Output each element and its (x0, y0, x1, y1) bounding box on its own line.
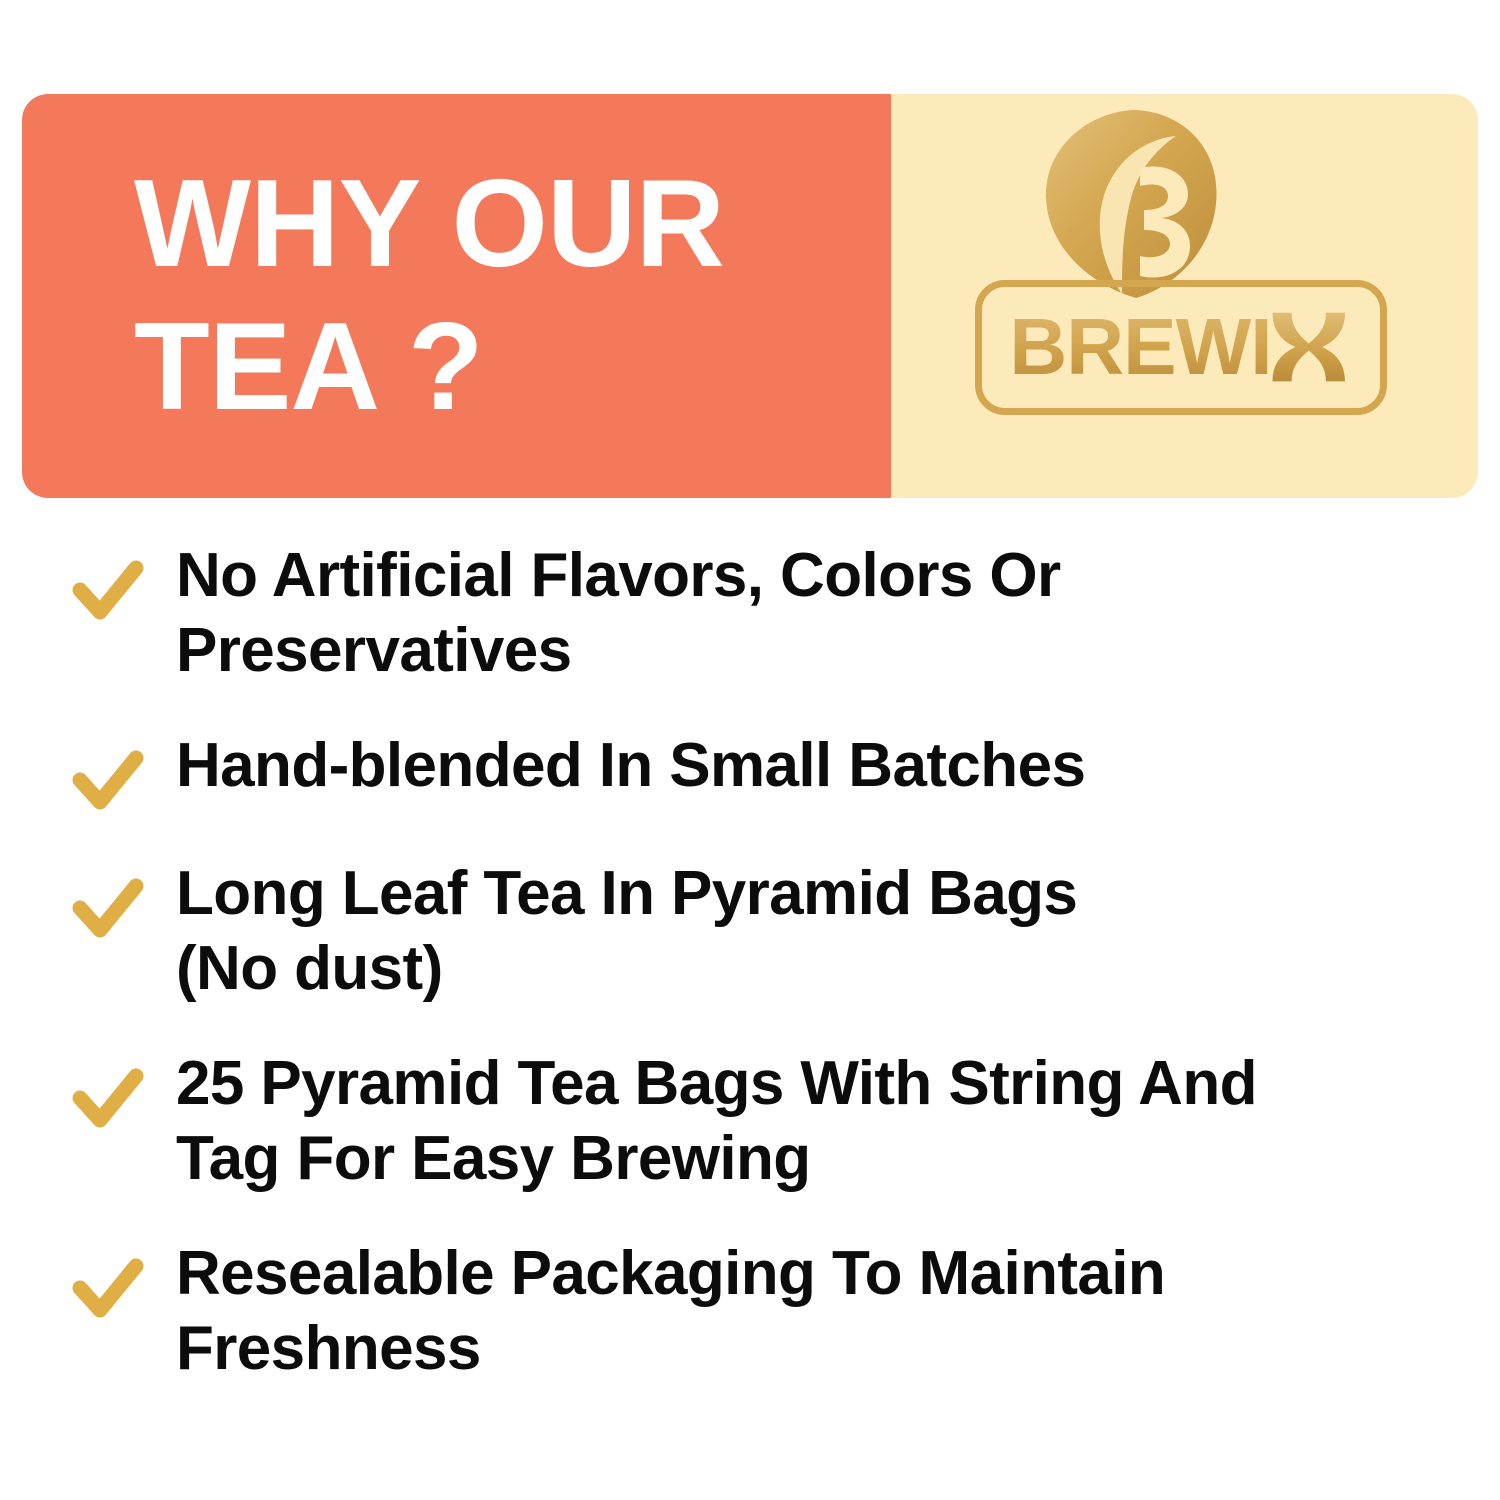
feature-list: No Artificial Flavors, Colors Or Preserv… (0, 538, 1500, 1426)
headline-panel: WHY OUR TEA ? (22, 94, 891, 498)
check-icon (72, 878, 144, 944)
list-item: 25 Pyramid Tea Bags With String And Tag … (0, 1046, 1500, 1196)
svg-text:BREWI: BREWI (1009, 307, 1271, 389)
logo-wordmark: BREWI (975, 280, 1387, 415)
check-icon (72, 750, 144, 816)
check-icon (72, 560, 144, 626)
list-item: Hand-blended In Small Batches (0, 728, 1500, 816)
list-item-label: Resealable Packaging To Maintain Freshne… (176, 1236, 1406, 1386)
list-item: Resealable Packaging To Maintain Freshne… (0, 1236, 1500, 1386)
page-title: WHY OUR TEA ? (22, 153, 891, 438)
logo-panel: BREWI (891, 94, 1478, 498)
header-banner: WHY OUR TEA ? (22, 94, 1478, 498)
list-item-label: 25 Pyramid Tea Bags With String And Tag … (176, 1046, 1406, 1196)
check-icon (72, 1258, 144, 1324)
list-item: Long Leaf Tea In Pyramid Bags (No dust) (0, 856, 1500, 1006)
list-item-label: Hand-blended In Small Batches (176, 728, 1406, 803)
brewix-logo: BREWI (891, 94, 1478, 498)
leaf-monogram-icon (1036, 106, 1226, 306)
product-feature-card: WHY OUR TEA ? (0, 0, 1500, 1500)
list-item-label: Long Leaf Tea In Pyramid Bags (No dust) (176, 856, 1406, 1006)
list-item: No Artificial Flavors, Colors Or Preserv… (0, 538, 1500, 688)
list-item-label: No Artificial Flavors, Colors Or Preserv… (176, 538, 1406, 688)
check-icon (72, 1068, 144, 1134)
